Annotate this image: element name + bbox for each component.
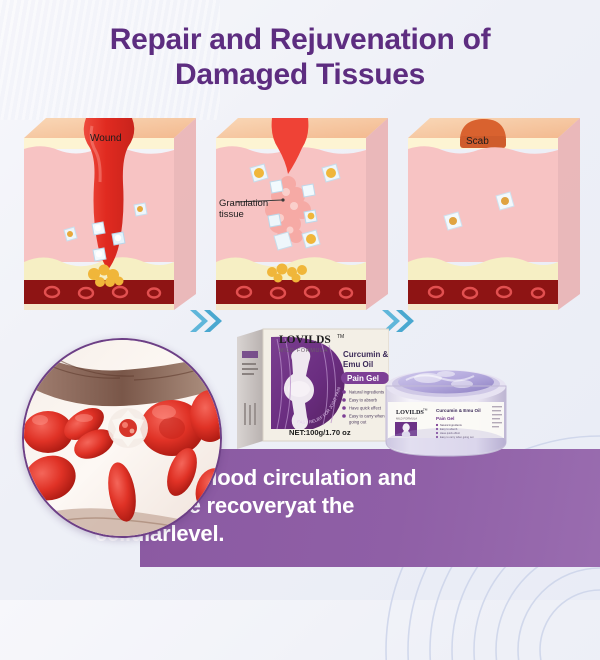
title-line-2: Damaged Tissues xyxy=(0,57,600,92)
svg-text:Easy to absorb: Easy to absorb xyxy=(349,398,378,403)
stage-arrow-1 xyxy=(188,304,224,338)
label-wound: Wound xyxy=(90,133,122,144)
svg-text:NET:100g/1.70 oz: NET:100g/1.70 oz xyxy=(289,428,351,437)
blood-circulation-photo xyxy=(22,338,222,538)
svg-text:Pain Gel: Pain Gel xyxy=(347,374,379,383)
svg-text:TM: TM xyxy=(337,334,344,340)
product-jar: LOVILDS TM MILD FORMULA Curcumin & Emu O… xyxy=(376,346,516,462)
skin-panel-scab xyxy=(408,112,580,310)
svg-text:Curcumin & Emu Oil: Curcumin & Emu Oil xyxy=(436,408,481,413)
svg-text:LOVILDS: LOVILDS xyxy=(396,409,424,416)
svg-text:Natural ingredients: Natural ingredients xyxy=(440,423,462,427)
svg-text:LOVILDS: LOVILDS xyxy=(279,334,331,346)
svg-text:going out: going out xyxy=(349,419,367,424)
label-granulation-tissue: Granulation tissue xyxy=(219,199,268,220)
title-line-1: Repair and Rejuvenation of xyxy=(0,22,600,57)
svg-text:Emu Oil: Emu Oil xyxy=(343,360,373,369)
svg-text:MILD FORMULA: MILD FORMULA xyxy=(279,348,328,354)
page-title: Repair and Rejuvenation of Damaged Tissu… xyxy=(0,22,600,92)
svg-text:TM: TM xyxy=(423,408,428,412)
svg-text:MILD FORMULA: MILD FORMULA xyxy=(396,417,417,421)
label-scab: Scab xyxy=(466,136,489,147)
product-box: FAST RELIEF FOR JOINT PAIN LOVILDS TM MI… xyxy=(237,327,389,449)
svg-text:Pain Gel: Pain Gel xyxy=(436,416,454,421)
